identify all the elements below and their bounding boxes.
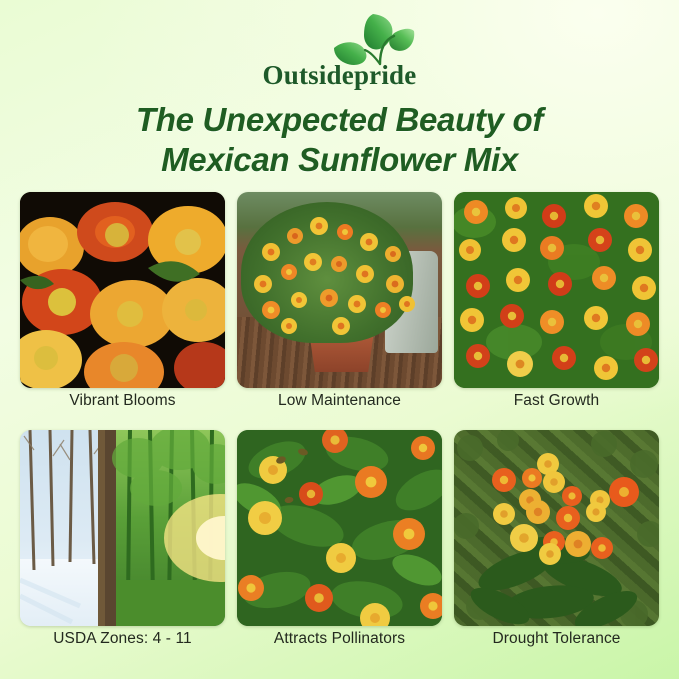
tile-caption: Drought Tolerance	[442, 630, 671, 648]
tile-caption: Attracts Pollinators	[225, 630, 454, 648]
page-title-line-2: Mexican Sunflower Mix	[0, 140, 679, 180]
photo-vibrant-blooms	[20, 192, 225, 388]
photo-low-maintenance	[237, 192, 442, 388]
page-title-line-1: The Unexpected Beauty of	[136, 101, 543, 138]
gallery-tile[interactable]: Low Maintenance	[237, 192, 442, 388]
photo-usda-zones	[20, 430, 225, 626]
page-title: The Unexpected Beauty of Mexican Sunflow…	[0, 100, 679, 181]
gallery-tile[interactable]: Attracts Pollinators	[237, 430, 442, 626]
gallery-tile[interactable]: Vibrant Blooms	[20, 192, 225, 388]
brand-wordmark: Outsidepride	[0, 60, 679, 91]
photo-attracts-pollinators	[237, 430, 442, 626]
tile-caption: Vibrant Blooms	[8, 392, 237, 410]
page-header: Outsidepride The Unexpected Beauty of Me…	[0, 0, 679, 181]
gallery-tile[interactable]: Fast Growth	[454, 192, 659, 388]
tile-caption: USDA Zones: 4 - 11	[8, 630, 237, 648]
tile-caption: Low Maintenance	[225, 392, 454, 410]
tile-caption: Fast Growth	[442, 392, 671, 410]
gallery-tile[interactable]: USDA Zones: 4 - 11	[20, 430, 225, 626]
gallery-tile[interactable]: Drought Tolerance	[454, 430, 659, 626]
photo-drought-tolerance	[454, 430, 659, 626]
feature-gallery: Vibrant Blooms	[20, 192, 659, 626]
photo-fast-growth	[454, 192, 659, 388]
brand-logo[interactable]: Outsidepride	[0, 8, 679, 94]
